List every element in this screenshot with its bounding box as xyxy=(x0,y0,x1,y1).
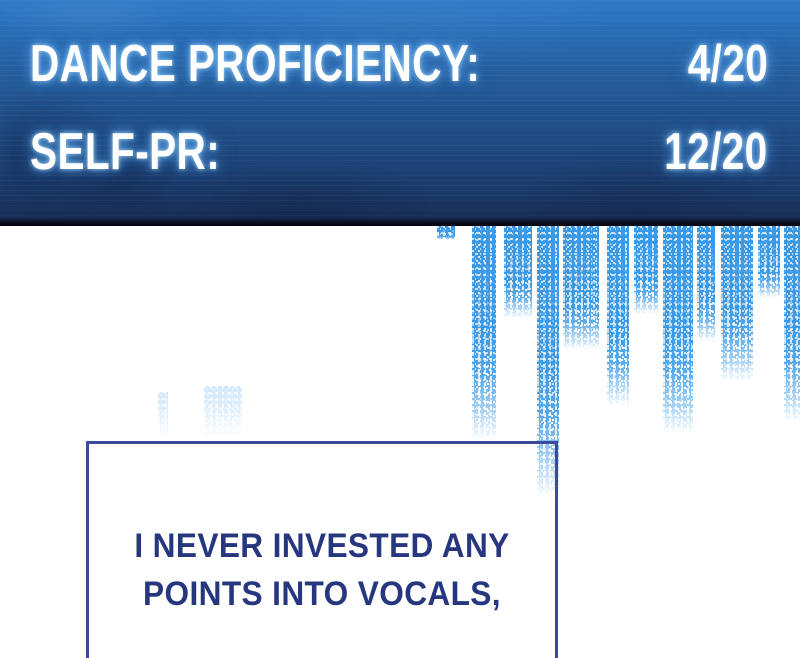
stat-value-dance-proficiency: 4/20 xyxy=(687,36,768,92)
stat-label-dance-proficiency: DANCE PROFICIENCY: xyxy=(30,36,480,92)
decorative-bar xyxy=(158,392,168,438)
stat-row-dance-proficiency: DANCE PROFICIENCY: 4/20 xyxy=(0,36,800,92)
stat-label-self-pr: SELF-PR: xyxy=(30,124,220,180)
decorative-bar xyxy=(504,226,532,318)
decorative-bar xyxy=(472,226,496,440)
decorative-bar xyxy=(563,226,599,350)
speech-bubble-line-1: I NEVER INVESTED ANY xyxy=(105,522,538,570)
status-panel: DANCE PROFICIENCY: 4/20 SELF-PR: 12/20 xyxy=(0,0,800,226)
decorative-bar xyxy=(607,226,629,406)
panel-scanline-overlay xyxy=(0,0,800,226)
decorative-bar xyxy=(721,226,753,382)
speech-bubble-line-2: POINTS INTO VOCALS, xyxy=(105,570,538,618)
decorative-bar xyxy=(663,226,693,434)
panel-bottom-divider xyxy=(0,218,800,226)
panel-background-texture xyxy=(0,0,800,226)
decorative-bar xyxy=(758,226,780,298)
speech-bubble-text: I NEVER INVESTED ANY POINTS INTO VOCALS, xyxy=(105,522,538,618)
decorative-bar xyxy=(437,226,455,240)
decorative-bar xyxy=(784,226,800,422)
speech-bubble: I NEVER INVESTED ANY POINTS INTO VOCALS, xyxy=(86,441,558,658)
decorative-bar xyxy=(697,226,715,342)
comic-panel-scene: DANCE PROFICIENCY: 4/20 SELF-PR: 12/20 I… xyxy=(0,0,800,658)
stat-row-self-pr: SELF-PR: 12/20 xyxy=(0,124,800,180)
decorative-bar xyxy=(634,226,658,314)
stat-value-self-pr: 12/20 xyxy=(665,124,768,180)
decorative-bar xyxy=(204,386,242,438)
